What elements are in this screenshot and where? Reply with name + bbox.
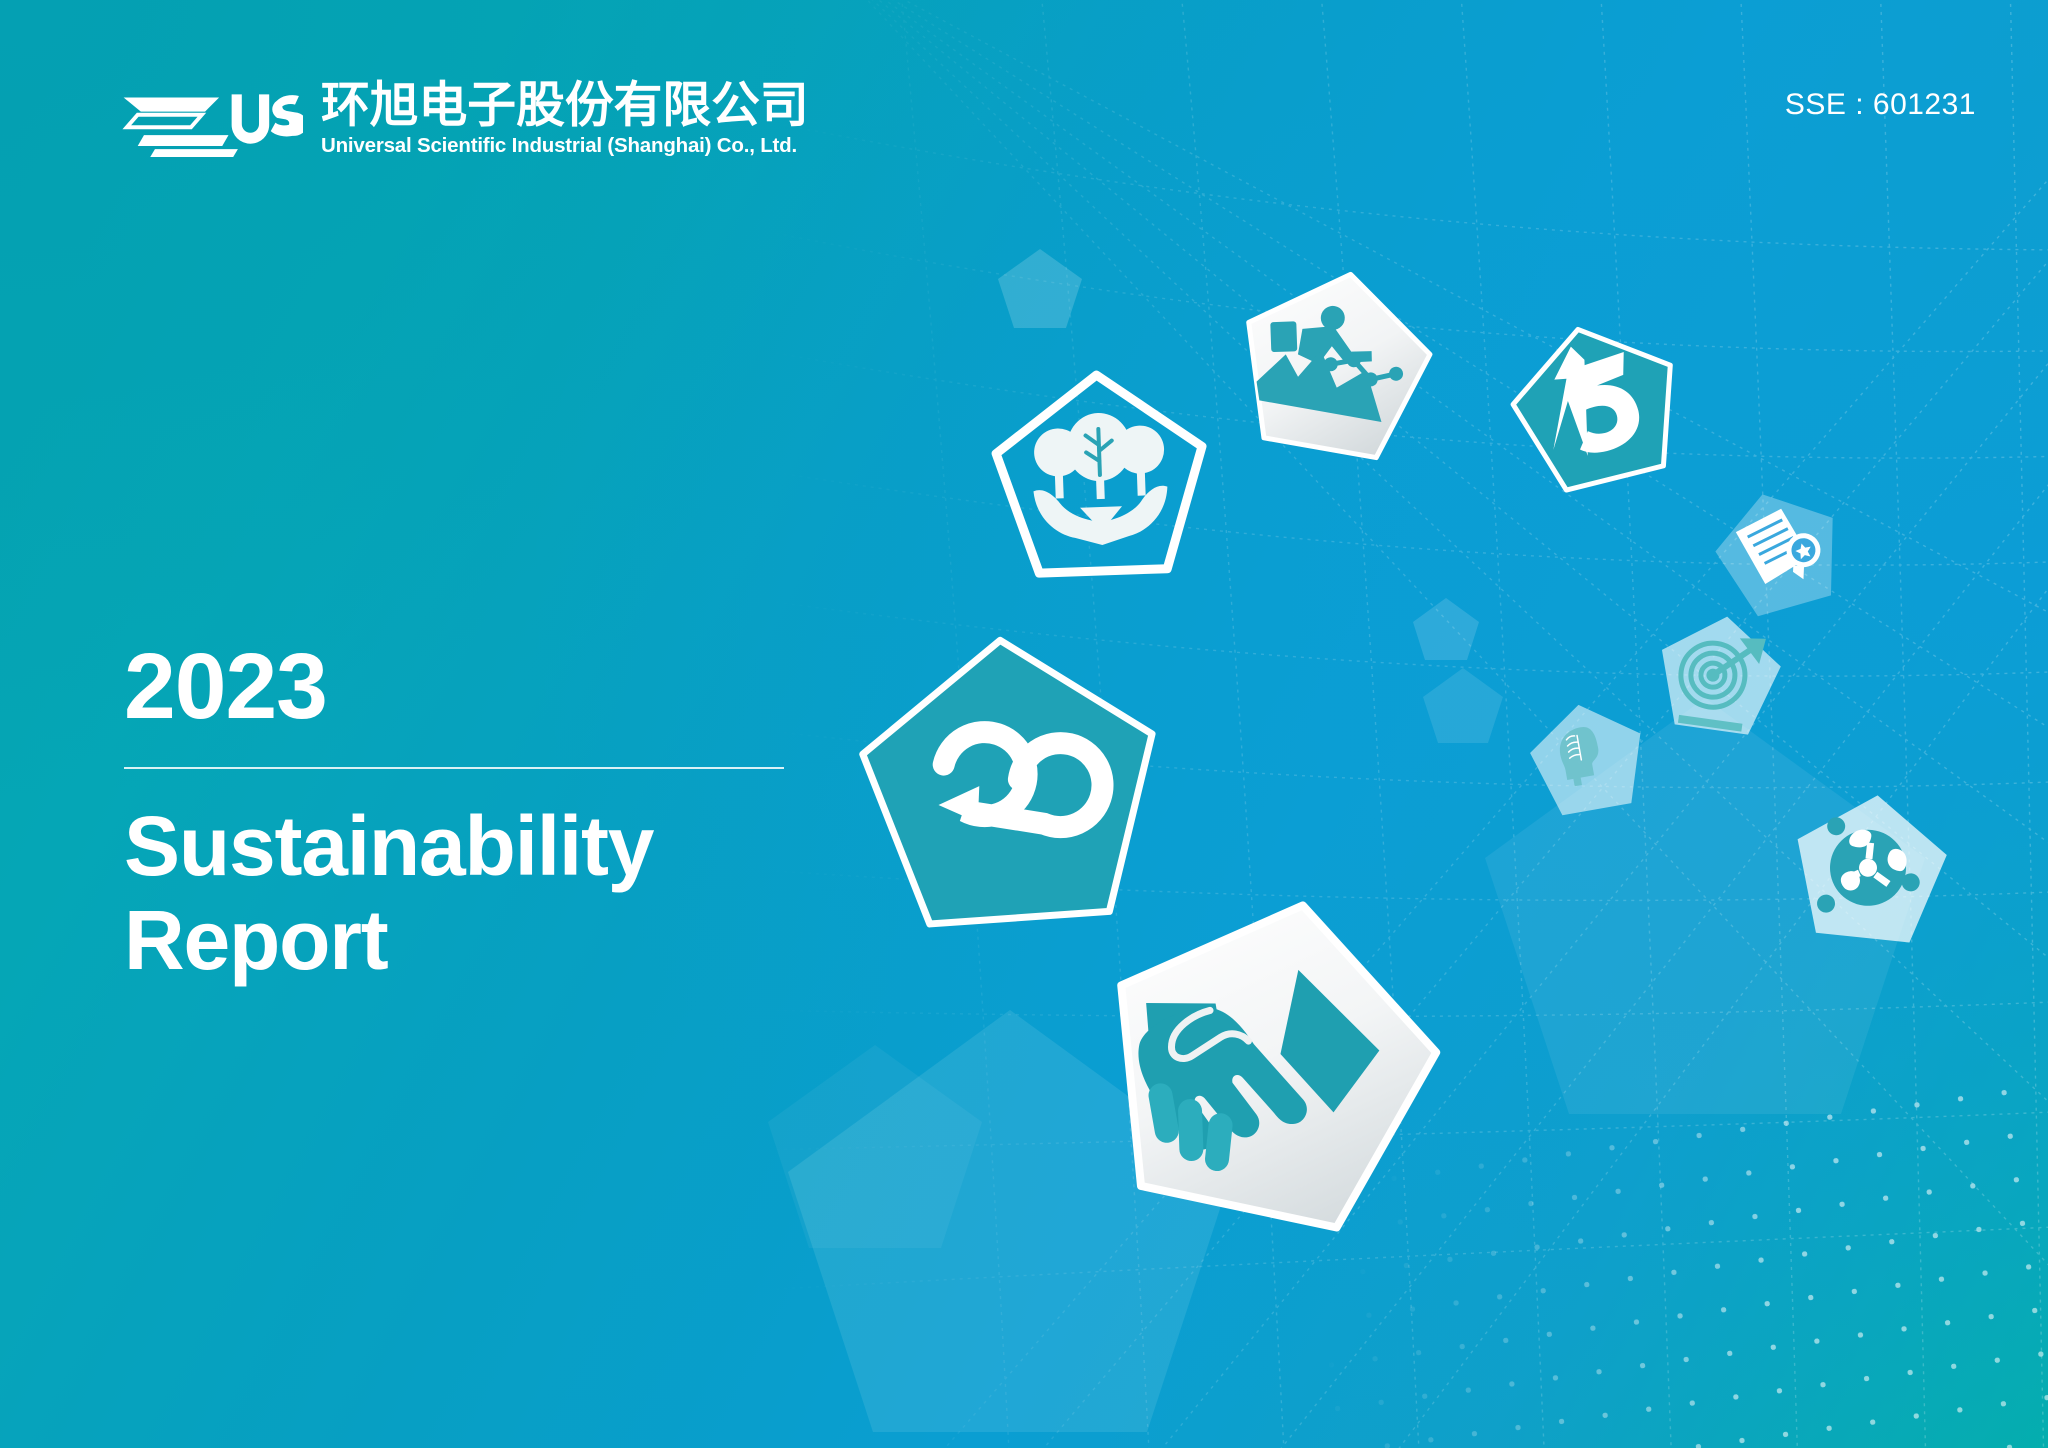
- report-year: 2023: [124, 640, 784, 733]
- report-cover: 环旭电子股份有限公司 Universal Scientific Industri…: [0, 0, 2048, 1448]
- badge-anniversary: [1510, 320, 1685, 492]
- badge-growth: [1235, 265, 1435, 461]
- report-title-line1: Sustainability: [124, 799, 784, 893]
- usi-logo-mark: [118, 85, 303, 157]
- badge-partnership: [1095, 890, 1445, 1230]
- decorative-pentagon-small-a: [995, 246, 1085, 334]
- badge-target: [1655, 612, 1783, 738]
- decorative-pentagon-small-d: [760, 1040, 990, 1265]
- title-divider: [124, 767, 784, 769]
- report-title: Sustainability Report: [124, 799, 784, 987]
- cover-header: 环旭电子股份有限公司 Universal Scientific Industri…: [0, 0, 2048, 210]
- badge-certificate: [1713, 487, 1845, 617]
- badge-environment: [985, 365, 1215, 589]
- company-name-cn-text: 环旭电子股份有限公司: [321, 78, 809, 133]
- badge-circular-economy: [855, 630, 1165, 932]
- decorative-pentagon-small-b: [1410, 595, 1482, 665]
- company-name-cn: 环旭电子股份有限公司: [321, 78, 1098, 134]
- report-title-line2: Report: [124, 893, 784, 987]
- hands-holding-trees-icon: [1031, 411, 1170, 548]
- cover-title-block: 2023 Sustainability Report: [124, 640, 784, 987]
- usi-logo: 环旭电子股份有限公司 Universal Scientific Industri…: [118, 78, 1098, 157]
- badge-community: [1790, 790, 1950, 946]
- badge-knowledge: [1528, 700, 1648, 818]
- stock-listing-code: SSE : 601231: [1785, 88, 1976, 122]
- company-name-en: Universal Scientific Industrial (Shangha…: [321, 136, 1098, 157]
- decorative-pentagon-small-c: [1420, 665, 1506, 749]
